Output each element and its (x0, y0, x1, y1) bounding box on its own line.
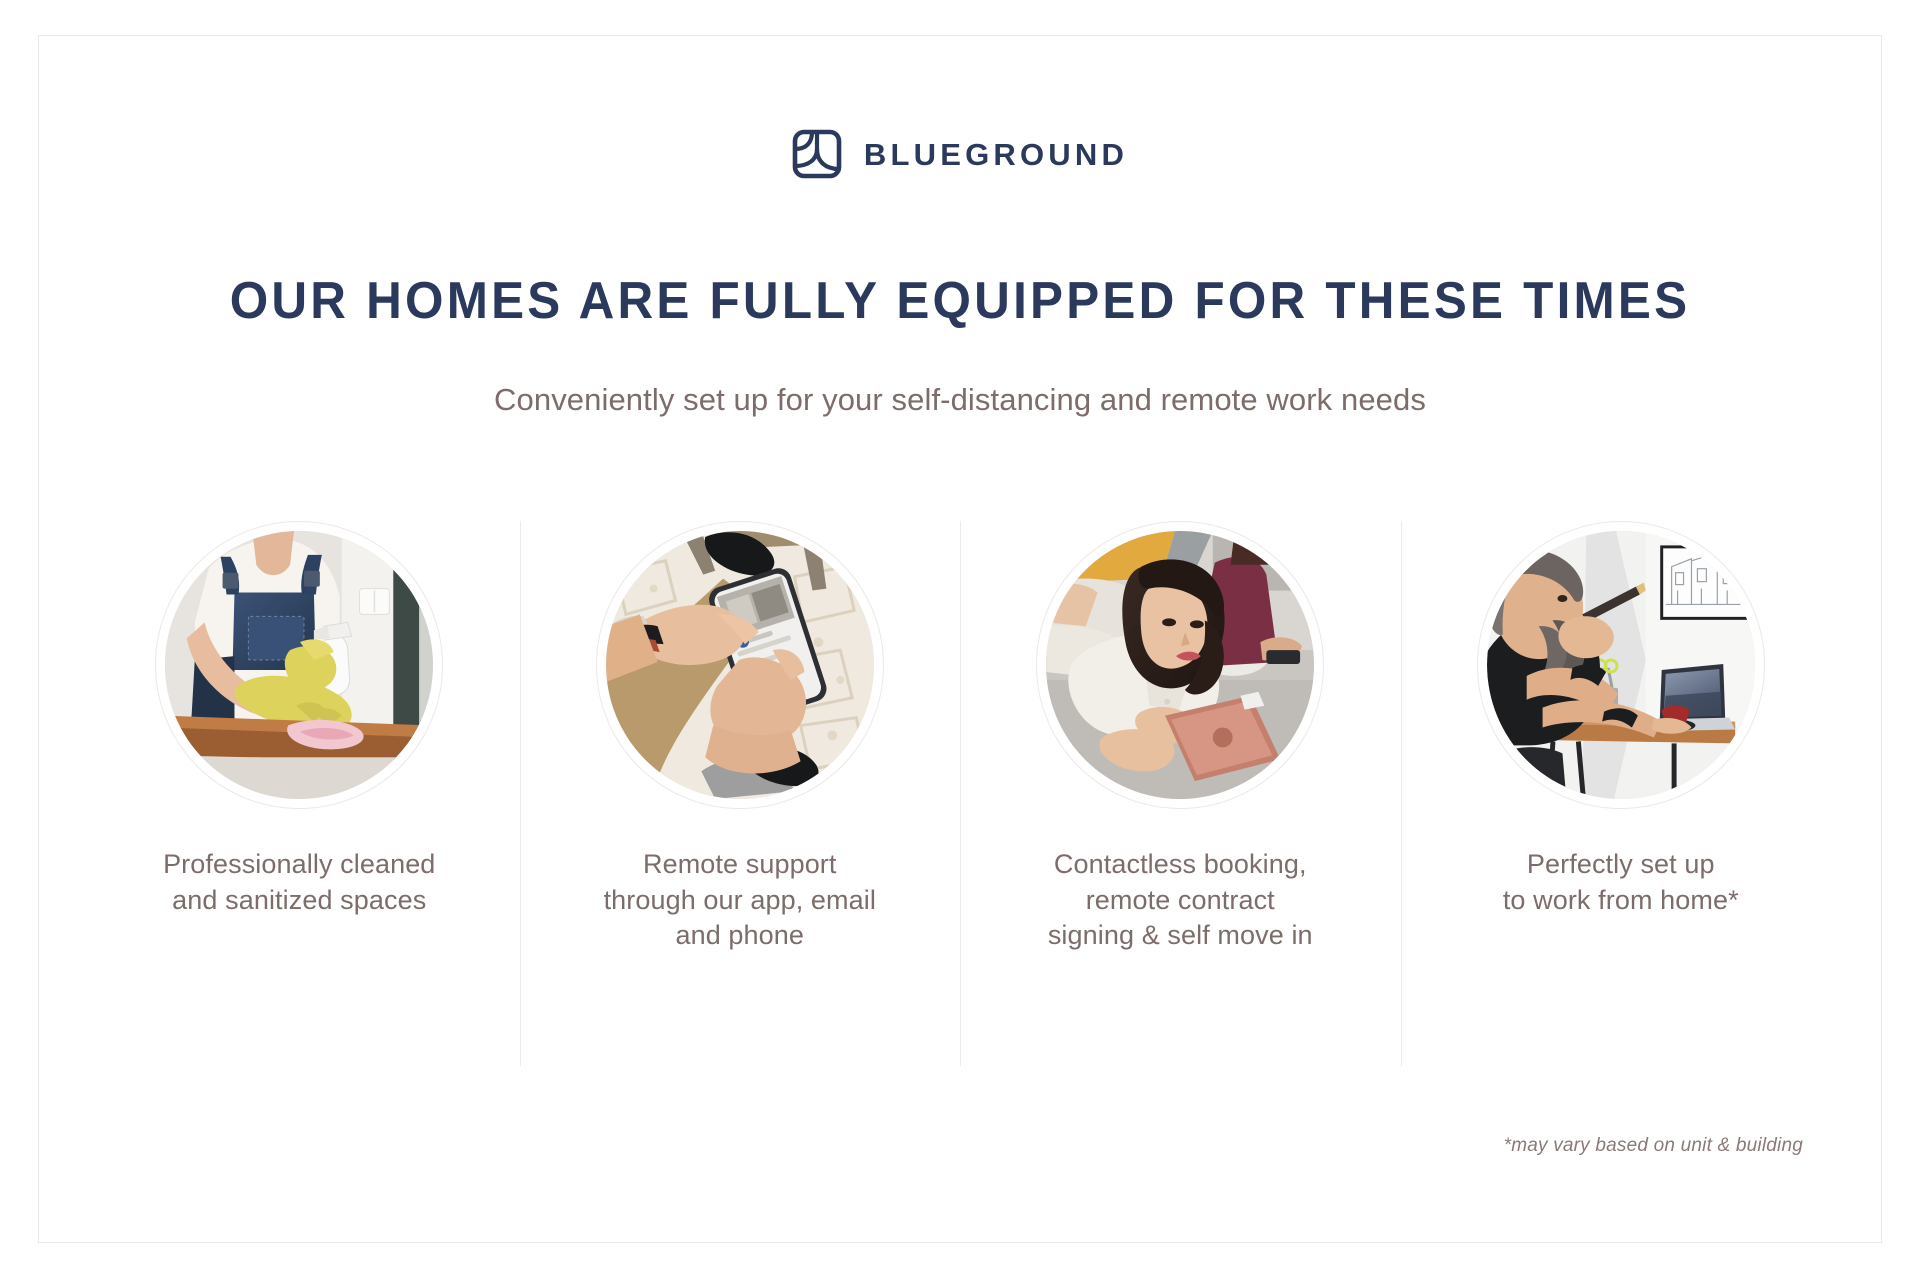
photo-ring-3 (1036, 521, 1324, 809)
feature-columns: Professionally cleaned and sanitized spa… (79, 521, 1841, 1066)
feature-column-remote-support: Remote support through our app, email an… (520, 521, 961, 1066)
page-subtitle: Conveniently set up for your self-distan… (39, 381, 1881, 420)
photo-ring-4 (1477, 521, 1765, 809)
caption-line: Professionally cleaned (163, 847, 435, 883)
caption-line: and phone (604, 918, 876, 954)
caption-line: to work from home* (1503, 883, 1739, 919)
feature-caption-3: Contactless booking, remote contract sig… (1048, 847, 1313, 954)
caption-line: Remote support (604, 847, 876, 883)
caption-line: and sanitized spaces (163, 883, 435, 919)
feature-column-cleaning: Professionally cleaned and sanitized spa… (79, 521, 520, 1066)
feature-caption-1: Professionally cleaned and sanitized spa… (163, 847, 435, 918)
feature-column-contactless-booking: Contactless booking, remote contract sig… (960, 521, 1401, 1066)
photo-cleaning (165, 531, 433, 799)
brand-wordmark: BLUEGROUND (864, 139, 1128, 170)
photo-work-from-home (1487, 531, 1755, 799)
feature-column-work-from-home: Perfectly set up to work from home* (1401, 521, 1842, 1066)
page-title: OUR HOMES ARE FULLY EQUIPPED FOR THESE T… (85, 273, 1835, 330)
feature-caption-2: Remote support through our app, email an… (604, 847, 876, 954)
caption-line: through our app, email (604, 883, 876, 919)
photo-mobile-app (606, 531, 874, 799)
caption-line: signing & self move in (1048, 918, 1313, 954)
caption-line: Contactless booking, (1048, 847, 1313, 883)
photo-ring-2 (596, 521, 884, 809)
footnote: *may vary based on unit & building (1504, 1135, 1803, 1157)
feature-caption-4: Perfectly set up to work from home* (1503, 847, 1739, 918)
brand-lockup: BLUEGROUND (39, 129, 1881, 179)
photo-tablet-booking (1046, 531, 1314, 799)
caption-line: remote contract (1048, 883, 1313, 919)
photo-ring-1 (155, 521, 443, 809)
caption-line: Perfectly set up (1503, 847, 1739, 883)
blueground-logo-icon (792, 129, 842, 179)
poster-frame: BLUEGROUND OUR HOMES ARE FULLY EQUIPPED … (38, 35, 1882, 1243)
